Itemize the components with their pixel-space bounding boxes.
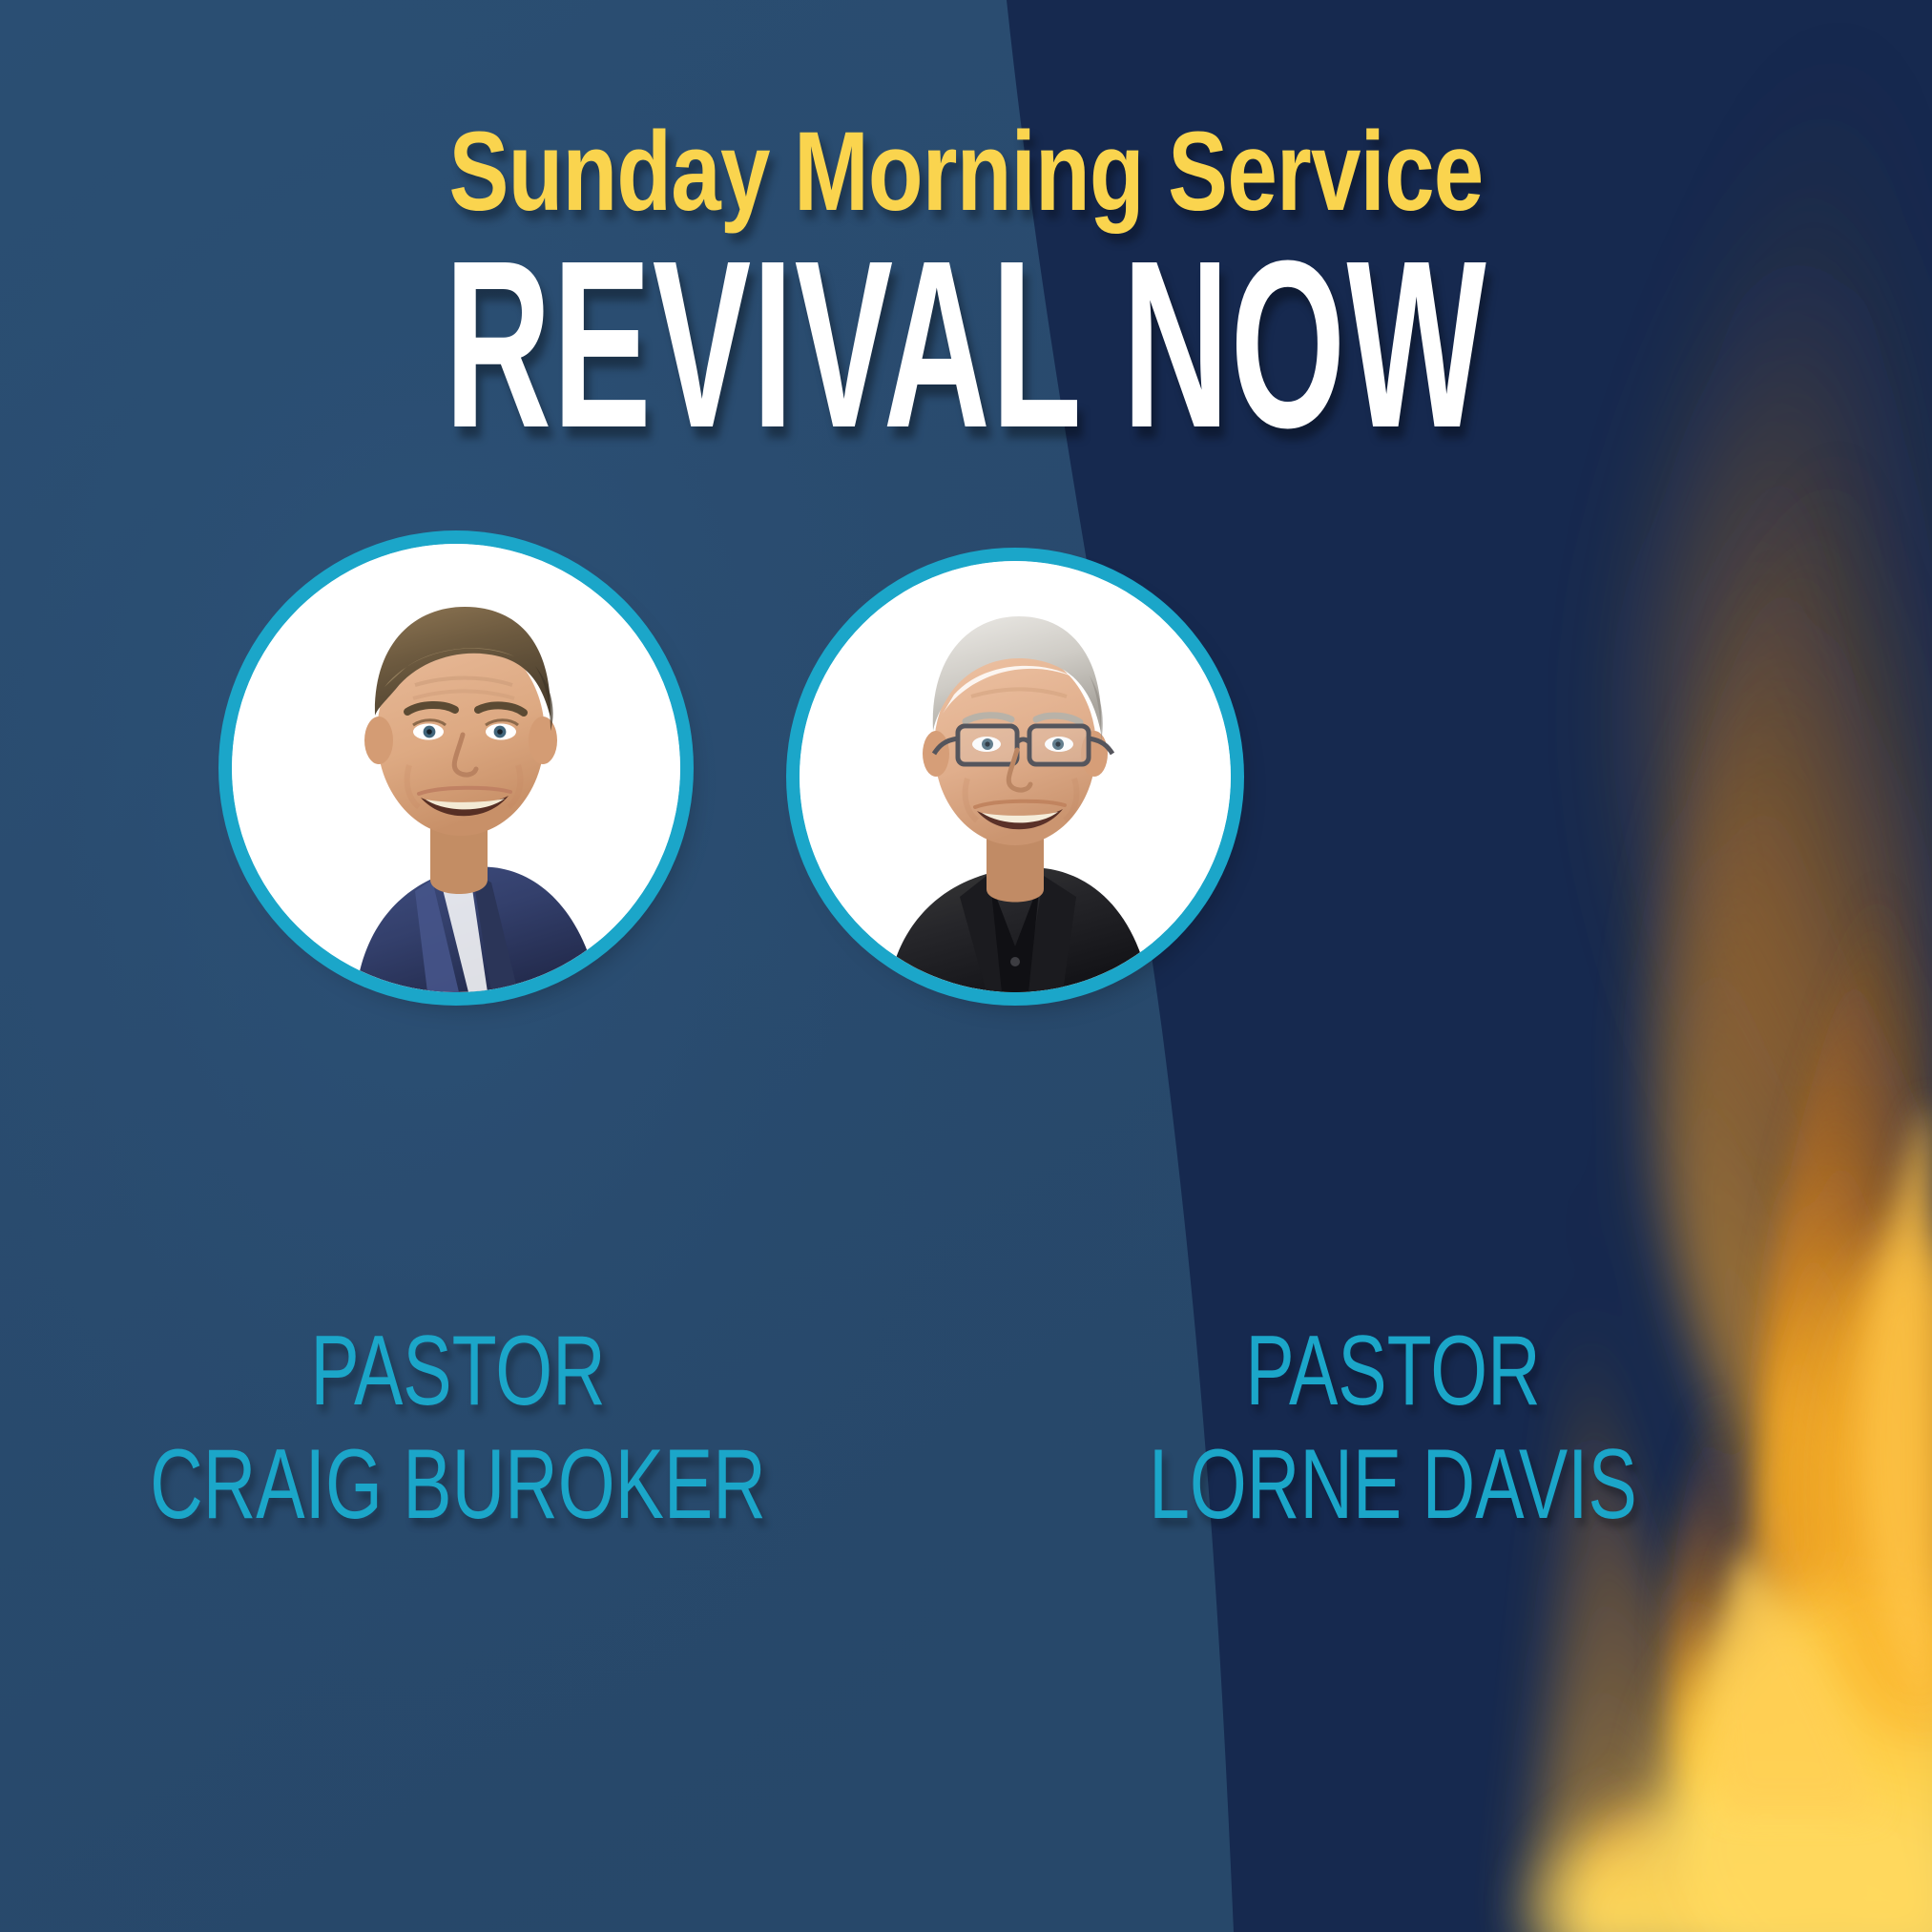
page-title-revival-now: REVIVAL NOW [367, 225, 1566, 464]
speaker-role-label: PASTOR [119, 1315, 797, 1428]
poster-canvas: Sunday Morning Service REVIVAL NOW [0, 0, 1932, 1932]
speaker-name-craig-buroker: PASTOR CRAIG BUROKER [0, 1315, 916, 1541]
speaker-full-name: LORNE DAVIS [1040, 1428, 1746, 1542]
speaker-name-lorne-davis: PASTOR LORNE DAVIS [916, 1315, 1870, 1541]
speaker-role-label: PASTOR [1040, 1315, 1746, 1428]
avatar-pastor-craig-buroker [232, 544, 680, 992]
speaker-full-name: CRAIG BUROKER [119, 1428, 797, 1542]
avatar-pastor-lorne-davis [800, 561, 1231, 992]
